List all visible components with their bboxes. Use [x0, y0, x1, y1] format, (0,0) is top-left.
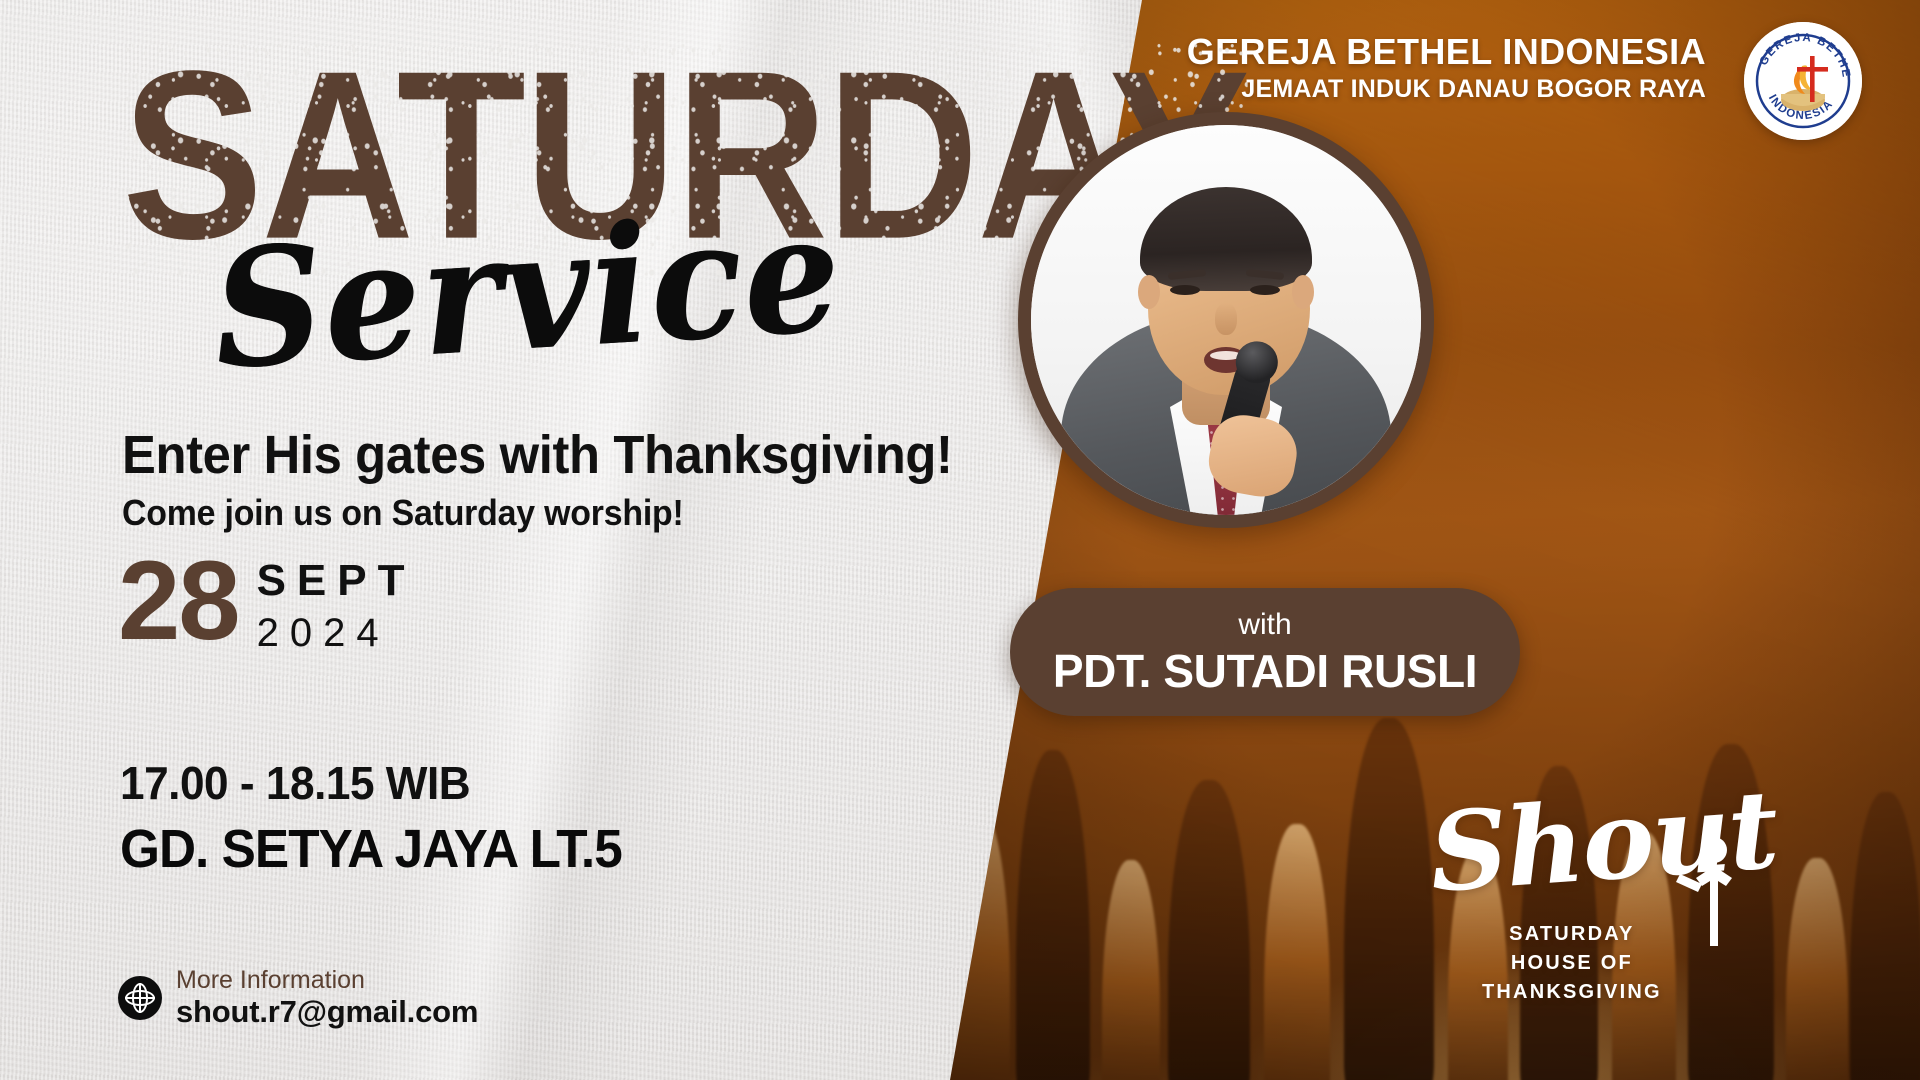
church-name: GEREJA BETHEL INDONESIA: [1187, 34, 1706, 70]
event-month: SEPT: [257, 558, 416, 604]
gbi-logo-svg: GEREJA BETHEL INDONESIA: [1744, 22, 1862, 140]
speaker-badge: with PDT. SUTADI RUSLI: [1010, 588, 1520, 716]
contact-texts: More Information shout.r7@gmail.com: [176, 967, 478, 1029]
tagline-secondary: Come join us on Saturday worship!: [122, 492, 684, 534]
event-date-block: 28 SEPT 2024: [118, 548, 416, 658]
service-flyer: GEREJA BETHEL INDONESIA JEMAAT INDUK DAN…: [0, 0, 1920, 1080]
shout-logo: Shout SATURDAY HOUSE OF THANKSGIVING: [1430, 800, 1790, 1000]
portrait-eye-right: [1250, 285, 1280, 295]
event-month-year: SEPT 2024: [257, 558, 416, 658]
shout-tagline-line1: SATURDAY: [1482, 920, 1662, 949]
shout-person-mark: [1672, 834, 1756, 954]
portrait-nose: [1215, 303, 1237, 335]
title-service: Service: [209, 192, 845, 392]
globe-meridian: [132, 983, 148, 1013]
gbi-logo-icon: GEREJA BETHEL INDONESIA: [1744, 22, 1862, 140]
shout-person-svg: [1672, 834, 1756, 954]
event-year: 2024: [257, 608, 416, 658]
portrait-eye-left: [1170, 285, 1200, 295]
contact-block[interactable]: More Information shout.r7@gmail.com: [118, 967, 478, 1029]
event-time: 17.00 - 18.15 WIB: [120, 756, 470, 810]
church-header: GEREJA BETHEL INDONESIA JEMAAT INDUK DAN…: [1187, 34, 1706, 102]
church-congregation: JEMAAT INDUK DANAU BOGOR RAYA: [1187, 77, 1706, 102]
speaker-name: PDT. SUTADI RUSLI: [1053, 648, 1477, 694]
portrait-ear-right: [1292, 275, 1314, 309]
portrait-ear-left: [1138, 275, 1160, 309]
speaker-with-label: with: [1238, 610, 1291, 640]
speaker-portrait: [1018, 112, 1434, 528]
globe-icon: [118, 976, 162, 1020]
shout-tagline-line3: THANKSGIVING: [1482, 978, 1662, 1007]
contact-label: More Information: [176, 967, 478, 993]
tagline-primary: Enter His gates with Thanksgiving!: [122, 424, 953, 486]
contact-email[interactable]: shout.r7@gmail.com: [176, 996, 478, 1029]
globe-parallel: [125, 990, 155, 1006]
event-day: 28: [118, 548, 239, 654]
shout-tagline-line2: HOUSE OF: [1482, 949, 1662, 978]
shout-tagline: SATURDAY HOUSE OF THANKSGIVING: [1482, 920, 1662, 1007]
event-venue: GD. SETYA JAYA LT.5: [120, 818, 622, 880]
